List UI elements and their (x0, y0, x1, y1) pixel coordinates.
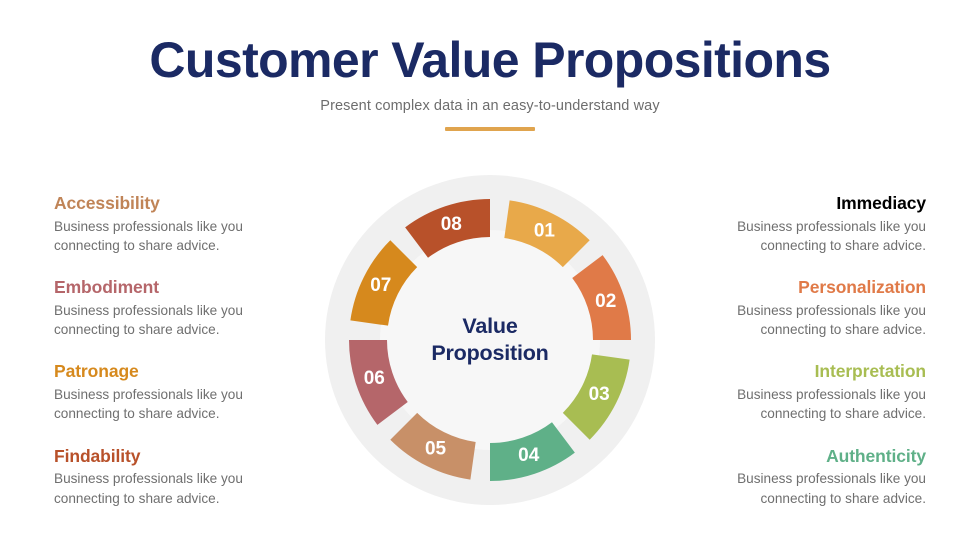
list-item-findability[interactable]: Findability Business professionals like … (54, 446, 322, 508)
left-label-column: Accessibility Business professionals lik… (54, 193, 322, 508)
entry-description: Business professionals like you connecti… (716, 469, 926, 508)
entry-title: Immediacy (658, 193, 926, 214)
donut-segment-label-07: 07 (370, 275, 391, 296)
list-item-embodiment[interactable]: Embodiment Business professionals like y… (54, 277, 322, 339)
page-title: Customer Value Propositions (0, 34, 980, 87)
list-item-interpretation[interactable]: Interpretation Business professionals li… (658, 361, 926, 423)
title-accent-divider (445, 127, 535, 131)
donut-segment-label-02: 02 (595, 291, 616, 312)
entry-title: Embodiment (54, 277, 322, 298)
donut-segment-label-04: 04 (518, 445, 540, 466)
entry-title: Findability (54, 446, 322, 467)
entry-title: Interpretation (658, 361, 926, 382)
donut-segment-label-08: 08 (441, 214, 462, 235)
entry-description: Business professionals like you connecti… (54, 217, 264, 256)
list-item-accessibility[interactable]: Accessibility Business professionals lik… (54, 193, 322, 255)
entry-description: Business professionals like you connecti… (716, 301, 926, 340)
donut-segment-label-06: 06 (364, 368, 385, 389)
slide-header: Customer Value Propositions Present comp… (0, 34, 980, 131)
donut-segment-label-05: 05 (425, 439, 447, 460)
list-item-patronage[interactable]: Patronage Business professionals like yo… (54, 361, 322, 423)
slide-canvas: Customer Value Propositions Present comp… (0, 0, 980, 551)
list-item-personalization[interactable]: Personalization Business professionals l… (658, 277, 926, 339)
list-item-authenticity[interactable]: Authenticity Business professionals like… (658, 446, 926, 508)
donut-chart: 0102030405060708 Value Proposition (325, 175, 655, 505)
donut-segment-label-03: 03 (589, 384, 610, 405)
donut-segments-svg: 0102030405060708 (325, 175, 655, 505)
entry-title: Personalization (658, 277, 926, 298)
entry-title: Accessibility (54, 193, 322, 214)
entry-title: Patronage (54, 361, 322, 382)
entry-description: Business professionals like you connecti… (54, 385, 264, 424)
page-subtitle: Present complex data in an easy-to-under… (0, 98, 980, 114)
entry-description: Business professionals like you connecti… (54, 301, 264, 340)
entry-description: Business professionals like you connecti… (54, 469, 264, 508)
donut-segment-label-01: 01 (534, 220, 556, 241)
entry-title: Authenticity (658, 446, 926, 467)
right-label-column: Immediacy Business professionals like yo… (658, 193, 926, 508)
entry-description: Business professionals like you connecti… (716, 217, 926, 256)
entry-description: Business professionals like you connecti… (716, 385, 926, 424)
list-item-immediacy[interactable]: Immediacy Business professionals like yo… (658, 193, 926, 255)
